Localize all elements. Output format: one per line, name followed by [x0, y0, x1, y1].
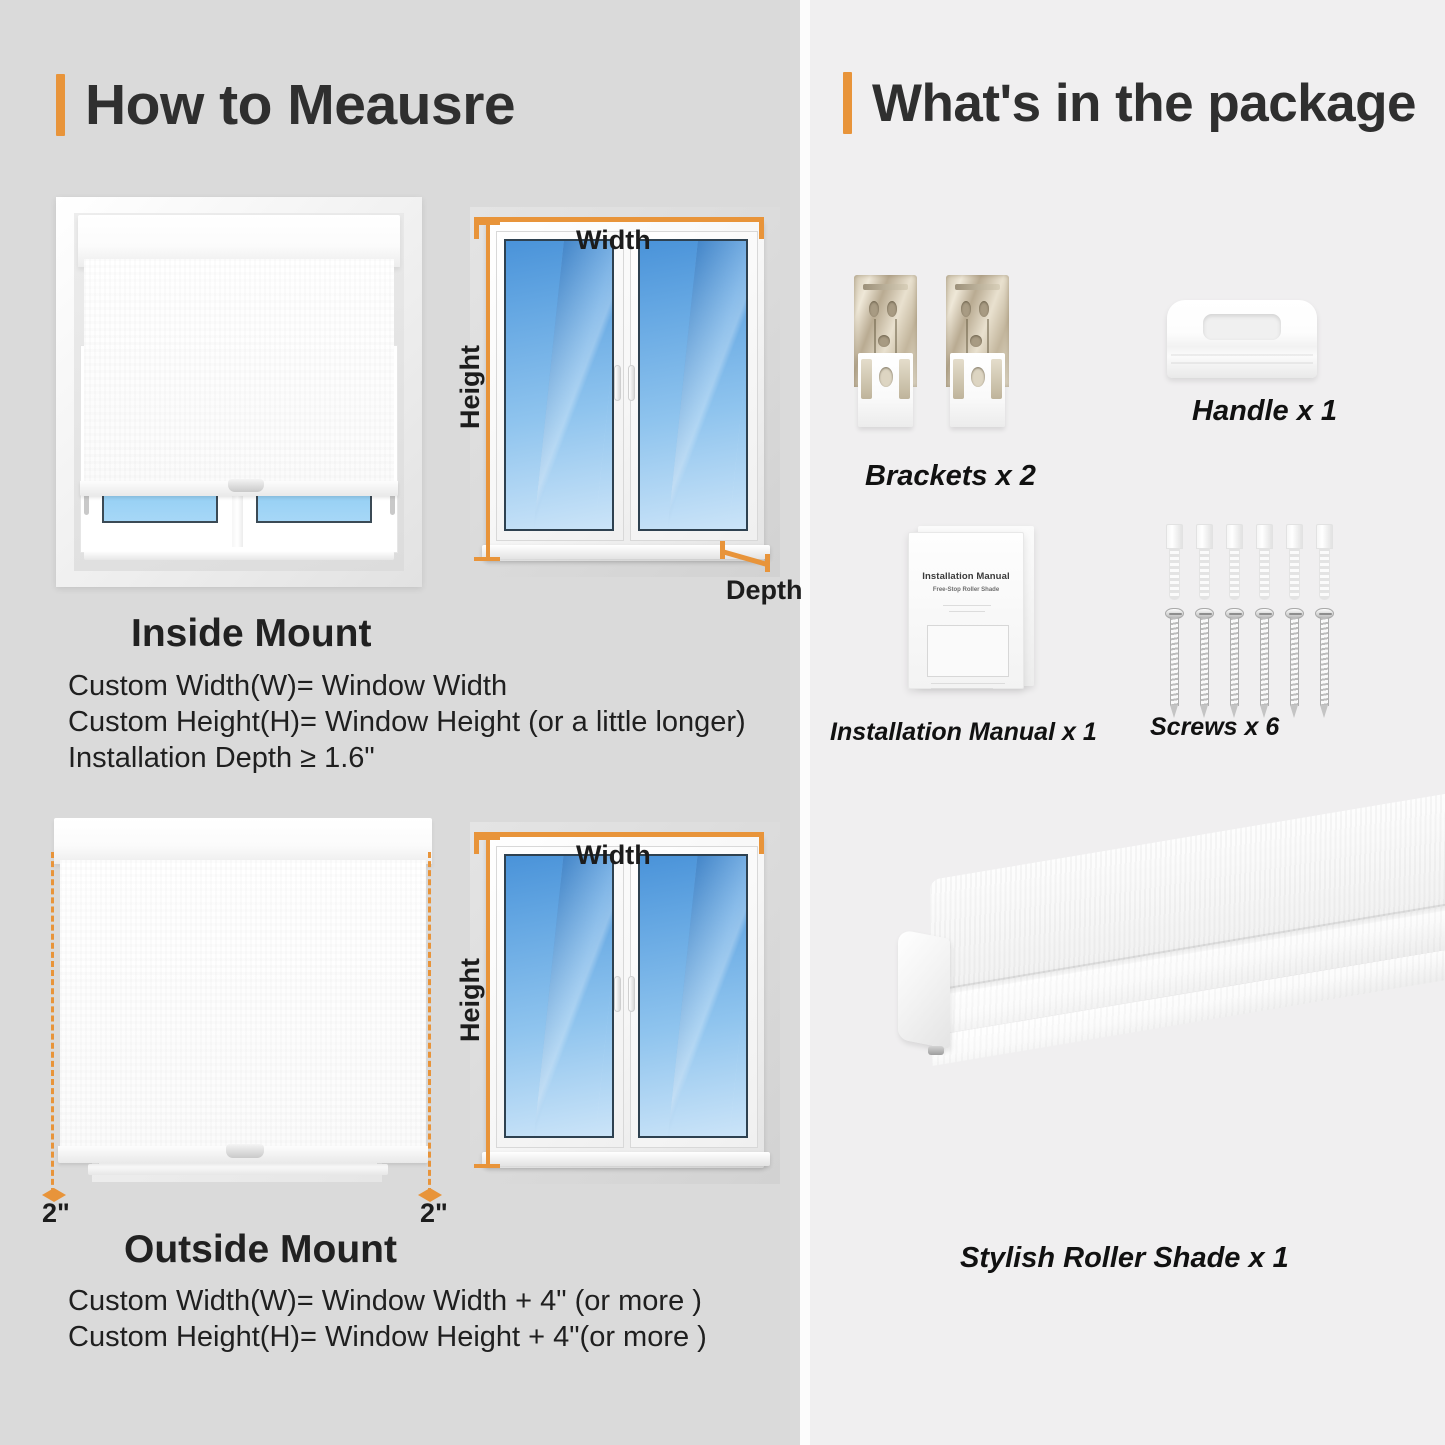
overhang-label-right: 2": [420, 1198, 448, 1229]
outside-mount-shade-illustration: [40, 812, 440, 1204]
outside-mount-spec-height: Custom Height(H)= Window Height + 4"(or …: [68, 1321, 707, 1354]
installation-manual-image: Installation Manual Free-Stop Roller Sha…: [902, 522, 1072, 692]
outside-mount-title: Outside Mount: [124, 1228, 397, 1272]
how-to-measure-heading: How to Meausre: [56, 72, 515, 138]
overhang-guide-right: [428, 852, 431, 1194]
inside-mount-spec-depth: Installation Depth ≥ 1.6": [68, 742, 375, 775]
roller-shade-image: [810, 870, 1445, 1200]
installation-manual-label: Installation Manual x 1: [830, 718, 1097, 747]
overhang-label-left: 2": [42, 1198, 70, 1229]
screws-label: Screws x 6: [1150, 713, 1279, 742]
manual-cover-subtitle: Free-Stop Roller Shade: [909, 587, 1023, 593]
brackets-image: [848, 275, 1048, 435]
package-title: What's in the package: [872, 73, 1416, 134]
outside-mount-spec-width: Custom Width(W)= Window Width + 4" (or m…: [68, 1285, 702, 1318]
roller-shade-label: Stylish Roller Shade x 1: [960, 1242, 1289, 1275]
height-label-outside: Height: [455, 958, 486, 1042]
infographic-page: How to Meausre: [0, 0, 1445, 1445]
accent-bar-icon: [843, 72, 852, 134]
width-label-inside: Width: [576, 225, 651, 256]
overhang-guide-left: [51, 852, 54, 1194]
outside-mount-measure-diagram: Width Height: [452, 812, 802, 1204]
depth-label-inside: Depth: [726, 575, 803, 606]
inside-mount-shade-illustration: [56, 197, 422, 587]
manual-cover-title: Installation Manual: [909, 571, 1023, 582]
inside-mount-spec-height: Custom Height(H)= Window Height (or a li…: [68, 706, 746, 739]
how-to-measure-title: How to Meausre: [85, 72, 515, 138]
handle-label: Handle x 1: [1192, 395, 1337, 428]
height-label-inside: Height: [455, 345, 486, 429]
inside-mount-title: Inside Mount: [131, 612, 371, 656]
inside-mount-measure-diagram: Width Height Depth: [452, 197, 802, 597]
accent-bar-icon: [56, 74, 65, 136]
package-contents-panel: What's in the package: [810, 0, 1445, 1445]
brackets-label: Brackets x 2: [865, 460, 1036, 493]
inside-mount-spec-width: Custom Width(W)= Window Width: [68, 670, 507, 703]
screws-image: [1160, 524, 1360, 694]
how-to-measure-panel: How to Meausre: [0, 0, 800, 1445]
handle-image: [1155, 292, 1335, 392]
width-label-outside: Width: [576, 840, 651, 871]
package-heading: What's in the package: [843, 72, 1416, 134]
